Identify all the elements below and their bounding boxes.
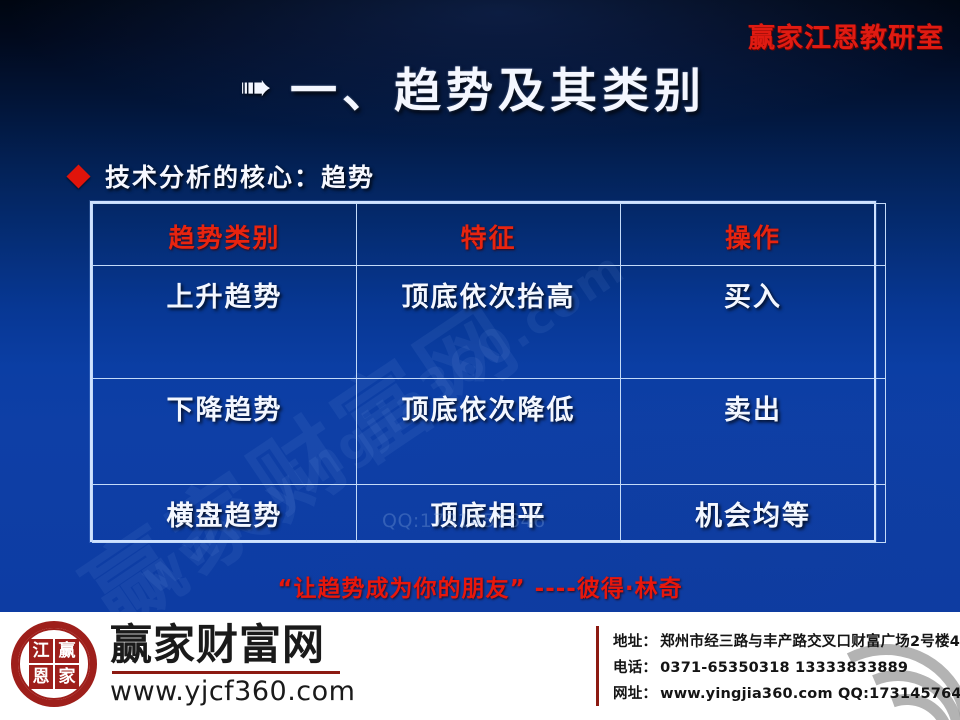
- brand-url[interactable]: www.yjcf360.com: [110, 677, 355, 707]
- contact-address-value: 郑州市经三路与丰产路交叉口财富广场2号楼4楼C户: [660, 634, 960, 650]
- table-header-cell: 特征: [357, 204, 621, 266]
- header-brand-tag: 赢家江恩教研室: [748, 16, 944, 55]
- brand-divider: [112, 671, 340, 674]
- table-cell: 顶底依次抬高: [357, 266, 621, 379]
- table-cell: 顶底依次降低: [357, 379, 621, 485]
- contact-phone: 电话：0371-65350318 13333833889: [613, 656, 960, 677]
- contact-address: 地址：郑州市经三路与丰产路交叉口财富广场2号楼4楼C户: [613, 630, 960, 651]
- slide-title-row: ➠ 一、趋势及其类别: [240, 52, 706, 121]
- table-row: 上升趋势 顶底依次抬高 买入: [93, 266, 886, 379]
- seal-char: 赢: [55, 639, 79, 663]
- seal-char: 家: [55, 665, 79, 689]
- trend-table: 趋势类别 特征 操作 上升趋势 顶底依次抬高 买入 下降趋势 顶底依次降低 卖出…: [90, 201, 876, 542]
- contact-web: 网址：www.yingjia360.com QQ:1731457646: [613, 682, 960, 703]
- diamond-bullet-icon: [66, 164, 90, 188]
- contact-web-label: 网址：: [613, 686, 657, 702]
- footer-logo-block[interactable]: 江 赢 恩 家 赢家财富网 www.yjcf360.com: [10, 620, 355, 708]
- brand-name: 赢家财富网: [110, 622, 355, 668]
- slide-quote: “让趋势成为你的朋友” ----彼得·林奇: [0, 569, 960, 603]
- slide-subtitle-row: 技术分析的核心：趋势: [70, 158, 375, 194]
- footer-contact-block: 地址：郑州市经三路与丰产路交叉口财富广场2号楼4楼C户 电话：0371-6535…: [596, 626, 960, 706]
- slide-canvas: 赢家财富网 www.yingjia360.com 赢家江恩教研室 ➠ 一、趋势及…: [0, 0, 960, 720]
- company-seal-icon: 江 赢 恩 家: [10, 620, 98, 708]
- table-cell: 机会均等: [621, 485, 886, 543]
- seal-char: 江: [29, 639, 53, 663]
- table-cell: 上升趋势: [93, 266, 357, 379]
- table-header-row: 趋势类别 特征 操作: [93, 204, 886, 266]
- contact-address-label: 地址：: [613, 634, 657, 650]
- table-cell: 买入: [621, 266, 886, 379]
- contact-phone-label: 电话：: [613, 660, 657, 676]
- table-cell: 横盘趋势: [93, 485, 357, 543]
- table-cell: 下降趋势: [93, 379, 357, 485]
- table-header-cell: 趋势类别: [93, 204, 357, 266]
- page-title: 一、趋势及其类别: [290, 52, 706, 121]
- table-row: 下降趋势 顶底依次降低 卖出: [93, 379, 886, 485]
- contact-phone-value: 0371-65350318 13333833889: [660, 660, 908, 676]
- table-header-cell: 操作: [621, 204, 886, 266]
- footer-brand-text: 赢家财富网 www.yjcf360.com: [110, 622, 355, 707]
- slide-subtitle: 技术分析的核心：趋势: [105, 158, 375, 194]
- table-cell: 卖出: [621, 379, 886, 485]
- contact-web-value[interactable]: www.yingjia360.com QQ:1731457646: [660, 686, 960, 702]
- arrow-bullet-icon: ➠: [240, 69, 284, 105]
- seal-char: 恩: [29, 665, 53, 689]
- footer-bar: 江 赢 恩 家 赢家财富网 www.yjcf360.com 地址：郑州市经三路与…: [0, 612, 960, 720]
- watermark-qq: QQ:1731457646: [382, 510, 546, 532]
